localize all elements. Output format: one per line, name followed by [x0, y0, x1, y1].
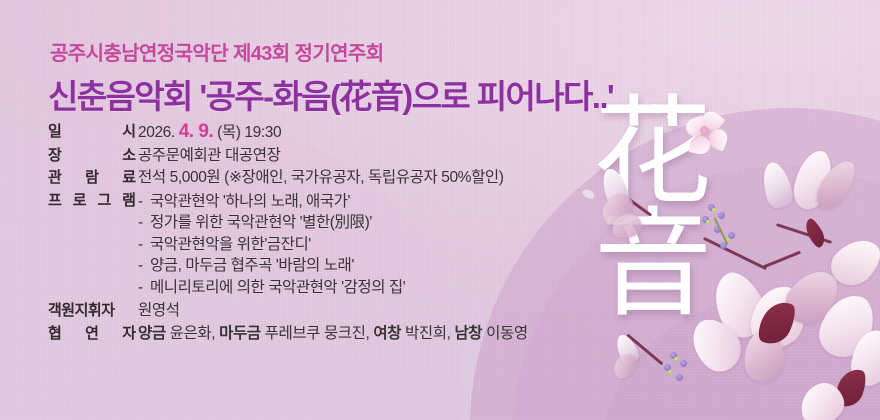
collaborator-name: 이동영	[486, 325, 528, 342]
poster-info-list: 일 시 2026. 4. 9. (목) 19:30 장 소 공주문예회관 대공연…	[48, 122, 648, 346]
program-dash: -	[138, 234, 150, 256]
info-row-datetime: 일 시 2026. 4. 9. (목) 19:30	[48, 122, 648, 143]
info-row-admission: 관 람 료 전석 5,000원 (※장애인, 국가유공자, 독립유공자 50%할…	[48, 168, 648, 188]
program-dash: -	[138, 255, 150, 277]
program-item-label: 국악관현악을 위한'금잔디'	[150, 234, 311, 256]
collaborator-role: 남창	[454, 325, 482, 342]
program-item-label: 메니리토리에 의한 국악관현악 '감정의 집'	[150, 277, 405, 299]
collaborator-name: 푸레브쿠 뭉크진,	[265, 325, 370, 342]
info-row-program: 프 로 그 램 - 국악관현악 '하나의 노래, 애국가' - 정가를 위한 국…	[48, 191, 648, 299]
program-dash: -	[138, 191, 150, 213]
program-list: - 국악관현악 '하나의 노래, 애국가' - 정가를 위한 국악관현악 '별한…	[138, 191, 648, 299]
datetime-weekday-time: (목) 19:30	[217, 124, 281, 141]
info-value-admission: 전석 5,000원 (※장애인, 국가유공자, 독립유공자 50%할인)	[138, 168, 648, 188]
collaborator-role: 마두금	[219, 325, 261, 342]
poster-title: 신춘음악회 '공주-화음(花音)으로 피어나다..'	[48, 70, 613, 118]
info-row-collaborators: 협 연 자 양금 윤은화, 마두금 푸레브쿠 뭉크진, 여창 박진희, 남창 이…	[48, 324, 648, 344]
collaborator-name: 박진희,	[405, 325, 451, 342]
program-list-item: - 양금, 마두금 협주곡 '바람의 노래'	[138, 255, 648, 277]
info-value-datetime: 2026. 4. 9. (목) 19:30	[138, 122, 648, 143]
collaborator-role: 여창	[373, 325, 401, 342]
program-list-item: - 국악관현악 '하나의 노래, 애국가'	[138, 191, 648, 213]
poster-content: 공주시충남연정국악단 제43회 정기연주회 신춘음악회 '공주-화음(花音)으로…	[0, 0, 640, 420]
datetime-monthday: 4. 9.	[179, 121, 213, 142]
program-list-item: - 메니리토리에 의한 국악관현악 '감정의 집'	[138, 277, 648, 299]
program-dash: -	[138, 212, 150, 234]
program-list-item: - 정가를 위한 국악관현악 '별한(別限)'	[138, 212, 648, 234]
info-label-collaborators: 협 연 자	[48, 324, 138, 344]
datetime-year: 2026.	[138, 124, 175, 141]
program-list-item: - 국악관현악을 위한'금잔디'	[138, 234, 648, 256]
concert-poster: 花 音	[0, 0, 880, 420]
program-dash: -	[138, 277, 150, 299]
info-label-program: 프 로 그 램	[48, 191, 138, 211]
info-row-venue: 장 소 공주문예회관 대공연장	[48, 146, 648, 166]
info-row-guest-conductor: 객원지휘자 원영석	[48, 301, 648, 321]
program-item-label: 양금, 마두금 협주곡 '바람의 노래'	[150, 255, 354, 277]
program-item-label: 정가를 위한 국악관현악 '별한(別限)'	[150, 212, 372, 234]
collaborator-name: 윤은화,	[170, 325, 216, 342]
program-item-label: 국악관현악 '하나의 노래, 애국가'	[150, 191, 350, 213]
info-value-collaborators: 양금 윤은화, 마두금 푸레브쿠 뭉크진, 여창 박진희, 남창 이동영	[138, 324, 648, 344]
poster-subtitle: 공주시충남연정국악단 제43회 정기연주회	[50, 37, 384, 66]
info-value-guest-conductor: 원영석	[138, 301, 648, 321]
collaborator-role: 양금	[138, 325, 166, 342]
info-label-venue: 장 소	[48, 146, 138, 166]
info-label-guest-conductor: 객원지휘자	[48, 301, 138, 321]
info-label-admission: 관 람 료	[48, 168, 138, 188]
info-value-venue: 공주문예회관 대공연장	[138, 146, 648, 166]
info-label-datetime: 일 시	[48, 122, 138, 142]
